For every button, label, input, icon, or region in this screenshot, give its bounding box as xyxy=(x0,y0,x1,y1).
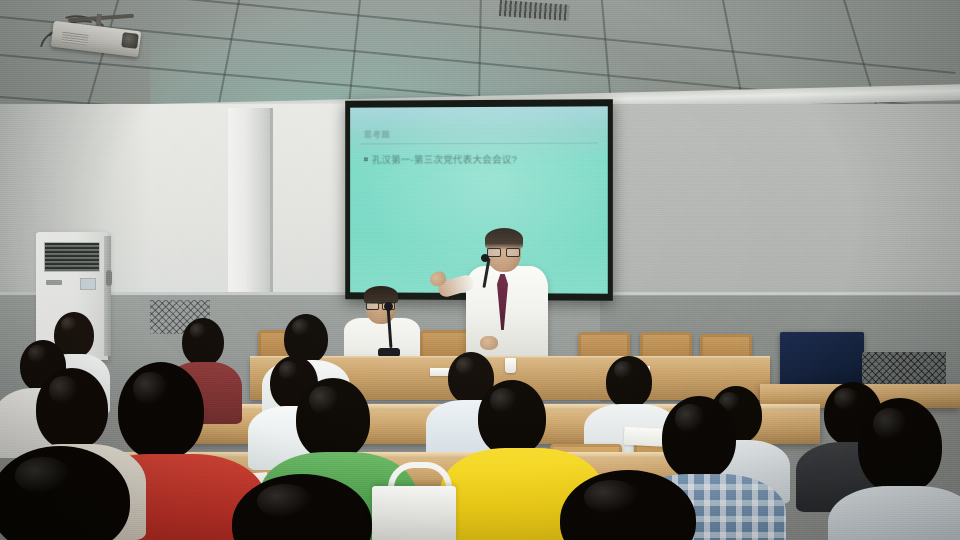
eyeglasses-icon xyxy=(487,248,519,255)
attendee-head xyxy=(662,396,736,480)
presenter-hand xyxy=(480,336,498,350)
slide-title: 思考题 xyxy=(364,129,391,140)
tote-bag[interactable] xyxy=(372,486,456,540)
presenter-shirt xyxy=(466,266,548,362)
ceiling-projector xyxy=(38,14,148,56)
slide-bullet-marker xyxy=(364,157,368,161)
air-conditioner-side xyxy=(104,236,111,356)
air-conditioner-vent xyxy=(44,242,100,272)
attendee-head xyxy=(858,398,942,494)
classroom-photo: 思考题 孔汉第一-第三次党代表大会会议? xyxy=(0,0,960,540)
attendee-head xyxy=(182,318,224,366)
attendee-head xyxy=(478,380,546,456)
projector-lens-icon xyxy=(121,32,139,49)
attendee-torso xyxy=(828,486,960,540)
slide-bullet-text: 孔汉第一-第三次党代表大会会议? xyxy=(372,152,517,166)
paper-cup[interactable] xyxy=(505,358,516,373)
microphone-icon xyxy=(384,302,393,311)
air-conditioner-display xyxy=(80,278,96,290)
attendee-head xyxy=(606,356,652,408)
air-conditioner-logo xyxy=(46,280,62,285)
presenter-hair xyxy=(485,228,523,250)
attendee-head xyxy=(36,368,108,450)
attendee-head xyxy=(296,378,370,460)
air-conditioner-knob[interactable] xyxy=(106,270,112,286)
attendee-head xyxy=(118,362,204,460)
microphone-icon xyxy=(481,254,489,262)
